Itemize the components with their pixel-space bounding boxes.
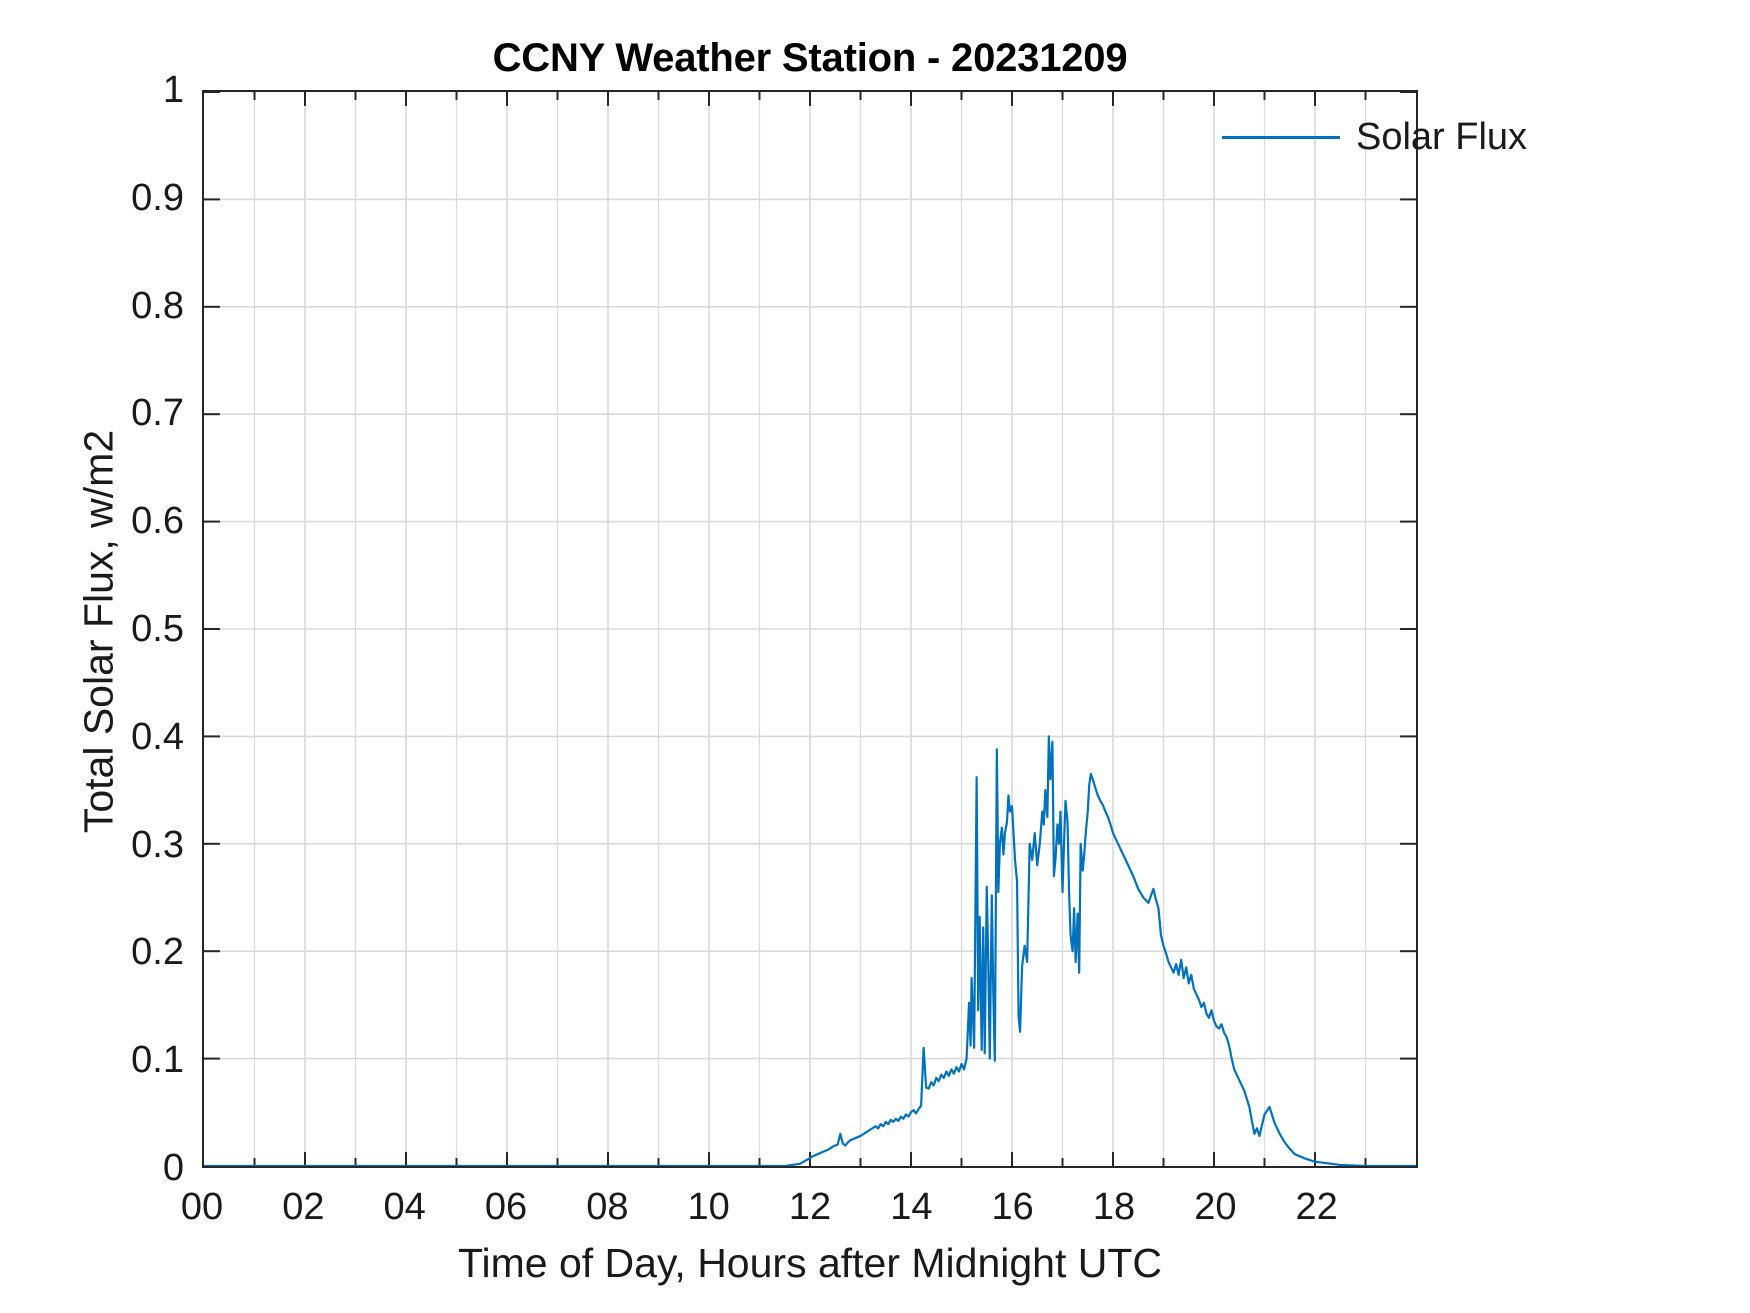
legend-line-swatch	[1222, 136, 1340, 139]
y-axis-label: Total Solar Flux, w/m2	[76, 93, 123, 1171]
x-tick-label: 22	[1257, 1188, 1377, 1226]
x-axis-tick-labels: 000204060810121416182022	[0, 0, 1750, 1313]
legend[interactable]: Solar Flux	[1222, 116, 1527, 159]
matlab-figure: CCNY Weather Station - 20231209 00.10.20…	[0, 0, 1750, 1313]
x-axis-label: Time of Day, Hours after Midnight UTC	[202, 1240, 1418, 1287]
legend-label: Solar Flux	[1356, 116, 1527, 159]
